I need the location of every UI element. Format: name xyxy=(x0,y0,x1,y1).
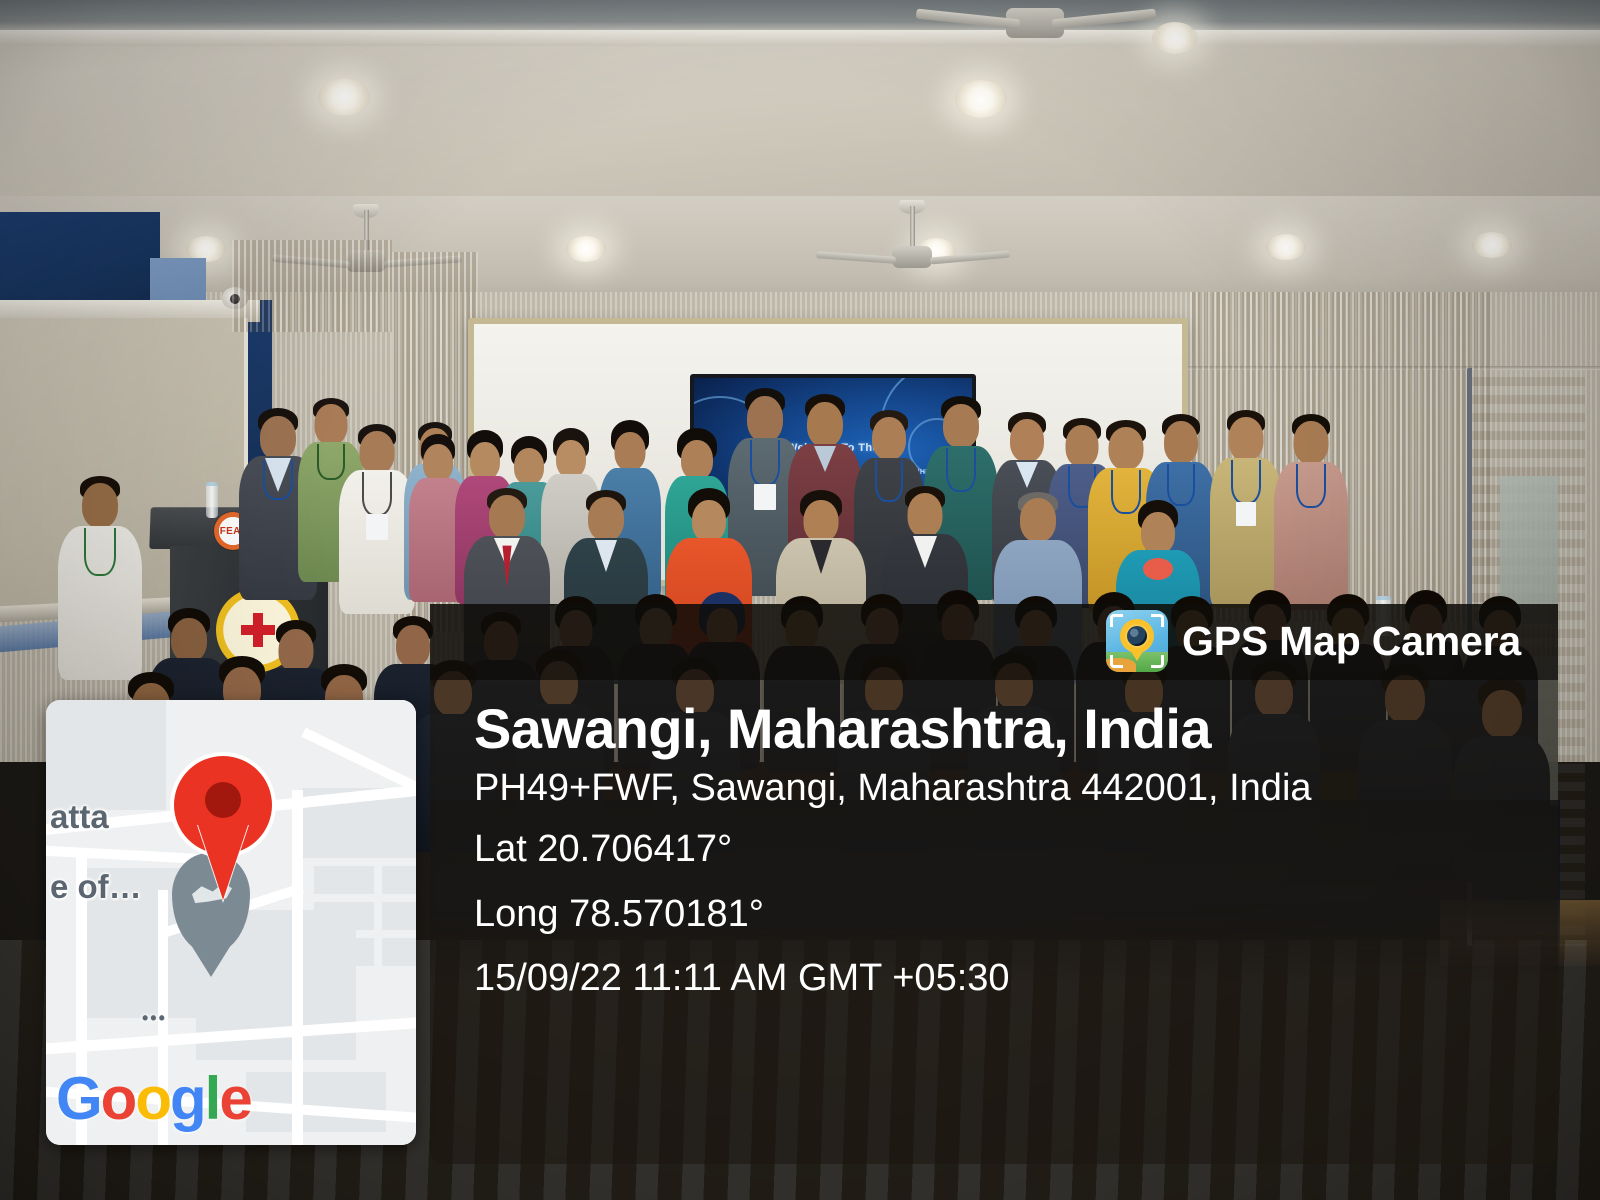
ceiling-fan-icon xyxy=(852,206,972,286)
downlight-icon xyxy=(1152,22,1198,54)
map-label-top: atta xyxy=(50,798,109,836)
wood-wall-panel xyxy=(232,240,392,332)
map-road-dots: ••• xyxy=(142,1008,167,1029)
location-title: Sawangi, Maharashtra, India xyxy=(474,700,1534,757)
map-label-mid: e of… xyxy=(50,868,142,906)
person xyxy=(60,476,140,676)
downlight-icon xyxy=(1266,234,1306,260)
location-longitude: Long 78.570181° xyxy=(474,895,1534,934)
downlight-icon xyxy=(1472,232,1512,258)
water-bottle xyxy=(206,482,218,518)
map-thumbnail[interactable]: atta e of… ••• Google xyxy=(46,700,416,1145)
ceiling-fan-icon xyxy=(960,0,1110,52)
person xyxy=(340,424,414,610)
location-timestamp: 15/09/22 11:11 AM GMT +05:30 xyxy=(474,959,1534,998)
person xyxy=(1212,410,1280,606)
person xyxy=(1276,414,1346,608)
gps-text-block: Sawangi, Maharashtra, India PH49+FWF, Sa… xyxy=(474,700,1534,998)
location-address: PH49+FWF, Sawangi, Maharashtra 442001, I… xyxy=(474,769,1534,808)
gps-map-camera-logo-icon xyxy=(1106,610,1168,672)
location-latitude: Lat 20.706417° xyxy=(474,830,1534,869)
google-logo: Google xyxy=(56,1069,251,1129)
downlight-icon xyxy=(566,236,606,262)
ceiling-beam xyxy=(0,30,1600,46)
app-brand-name: GPS Map Camera xyxy=(1182,621,1521,662)
gps-brand-row: GPS Map Camera xyxy=(1106,606,1521,676)
red-location-pin-icon xyxy=(174,756,272,854)
downlight-icon xyxy=(955,80,1007,118)
downlight-icon xyxy=(318,78,370,116)
screenshot-root: Welcome To The FACULTY OF ENGINEERING AN… xyxy=(0,0,1600,1200)
